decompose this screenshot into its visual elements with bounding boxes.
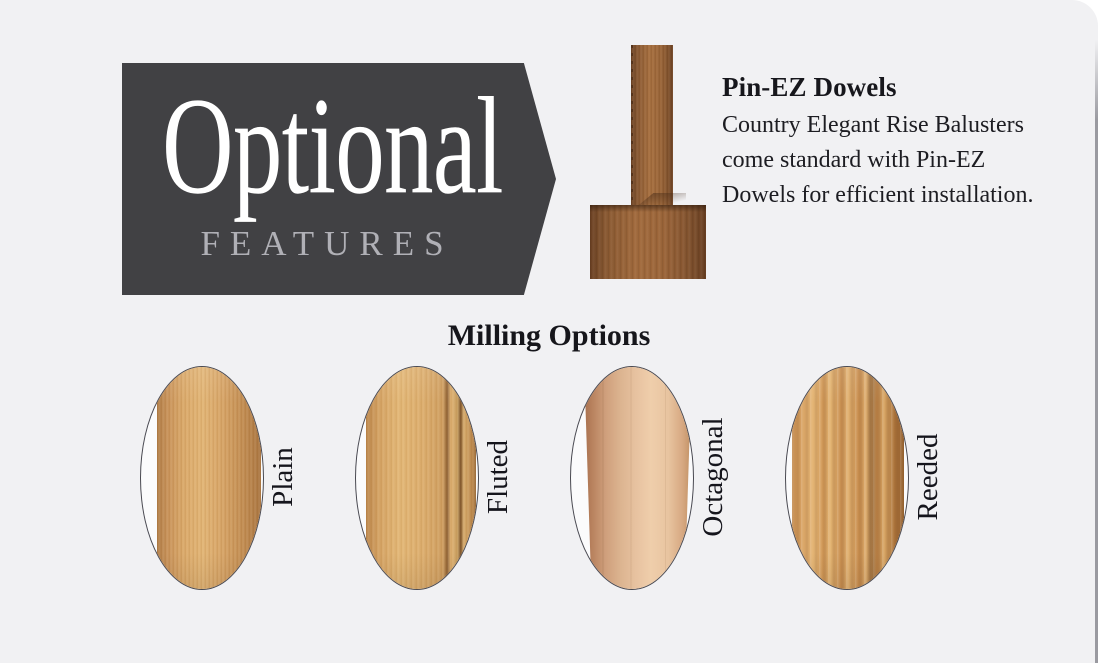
milling-option-label-reeded: Reeded [907,366,949,588]
milling-sample-reeded [785,366,909,590]
pin-ez-dowel-heading: Pin-EZ Dowels [722,71,1052,103]
column-shading [792,366,904,590]
milling-sample-plain [140,366,264,590]
wood-column-octagonal [584,366,692,590]
wood-column-reeded [792,366,904,590]
dowel-pin [631,45,673,207]
pin-ez-dowel-description: Country Elegant Rise Balusters come stan… [722,108,1052,213]
milling-option-fluted[interactable]: Fluted [355,366,570,592]
pin-ez-dowel-photo [588,45,708,280]
milling-options-row: Plain Fluted Octagonal Reeded [140,366,1070,596]
banner-subtitle: FEATURES [122,226,522,261]
dowel-base-shadow [590,205,706,212]
optional-features-banner: Optional FEATURES [122,63,556,295]
milling-option-octagonal[interactable]: Octagonal [570,366,785,592]
milling-options-heading: Milling Options [0,318,1098,354]
dowel-pin-seam [631,45,633,207]
optional-features-page: Optional FEATURES Pin-EZ Dowels Country … [0,0,1098,663]
banner-title: Optional [162,77,482,216]
milling-sample-octagonal [570,366,694,590]
wood-column-plain [157,366,261,590]
milling-option-plain[interactable]: Plain [140,366,355,592]
milling-option-label-fluted: Fluted [477,366,519,588]
column-shading [157,366,261,590]
pin-ez-dowel-text-block: Pin-EZ Dowels Country Elegant Rise Balus… [722,71,1052,213]
dowel-base [590,205,706,279]
milling-option-label-plain: Plain [262,366,304,588]
wood-column-fluted [366,366,476,590]
milling-sample-fluted [355,366,479,590]
column-shading [366,366,476,590]
milling-option-reeded[interactable]: Reeded [785,366,1000,592]
milling-option-label-octagonal: Octagonal [692,366,734,588]
